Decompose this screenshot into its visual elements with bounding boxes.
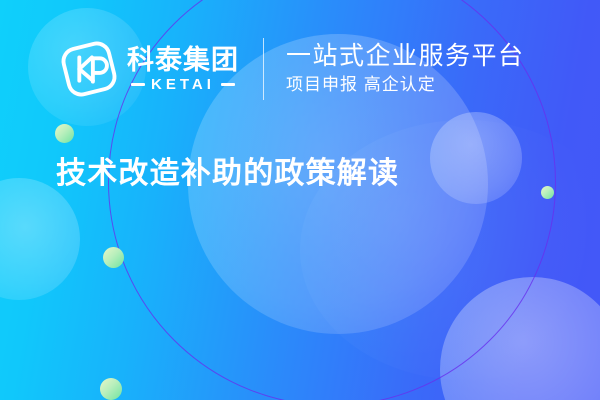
- brand-logo[interactable]: 科泰集团 KETAI: [58, 38, 239, 100]
- tagline-block: 一站式企业服务平台 项目申报 高企认定: [286, 42, 525, 95]
- promo-banner: 科泰集团 KETAI 一站式企业服务平台 项目申报 高企认定 技术改造补助的政策…: [0, 0, 600, 400]
- header-divider: [263, 38, 264, 100]
- decorative-circle-bottom-right: [440, 277, 600, 400]
- decorative-green-dot: [100, 378, 122, 400]
- tagline-primary: 一站式企业服务平台: [286, 42, 525, 70]
- tagline-secondary: 项目申报 高企认定: [286, 75, 525, 95]
- wordmark-rule-right: [221, 83, 235, 86]
- brand-name-en: KETAI: [151, 77, 215, 92]
- banner-header: 科泰集团 KETAI 一站式企业服务平台 项目申报 高企认定: [58, 38, 525, 100]
- page-title: 技术改造补助的政策解读: [56, 155, 399, 193]
- decorative-green-dot: [55, 124, 74, 143]
- decorative-circle-top-right: [430, 112, 522, 204]
- wordmark-rule-left: [131, 83, 145, 86]
- ketai-kp-monogram-icon: [58, 38, 120, 100]
- decorative-green-dot: [103, 247, 124, 268]
- decorative-circle-left: [0, 178, 80, 300]
- brand-name-cn: 科泰集团: [127, 46, 239, 74]
- decorative-green-dot: [541, 186, 554, 199]
- brand-name-en-row: KETAI: [131, 77, 235, 92]
- brand-wordmark: 科泰集团 KETAI: [127, 46, 239, 92]
